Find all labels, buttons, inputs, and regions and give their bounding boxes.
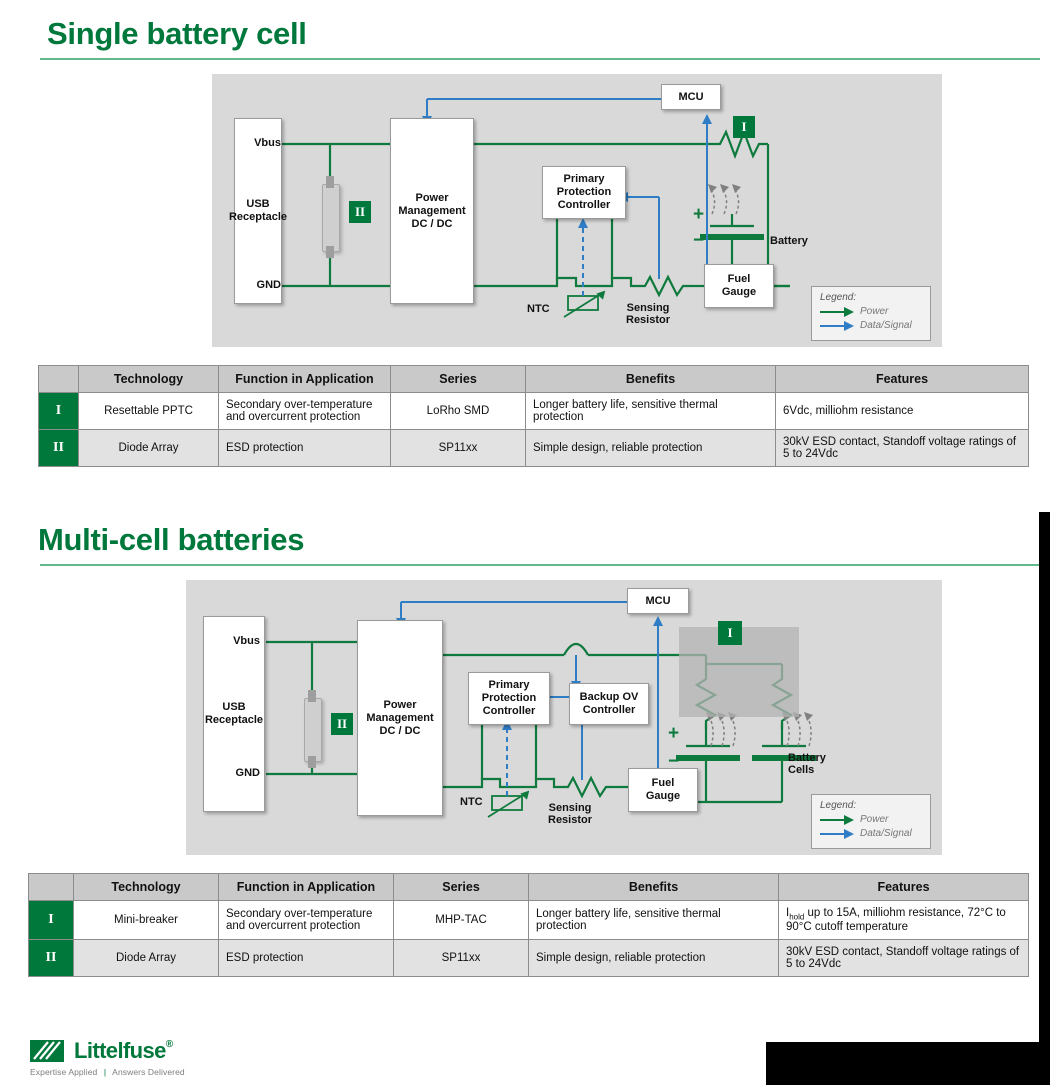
title-divider-1 (40, 58, 1040, 60)
legend-power-line-icon (820, 815, 856, 825)
sensing-resistor-label-2: Sensing Resistor (548, 802, 592, 826)
th-series-2: Series (394, 874, 529, 901)
page-title-2: Multi-cell batteries (0, 522, 1050, 558)
section-single-battery-cell: Single battery cell (0, 16, 1050, 467)
cell-features: Ihold up to 15A, milliohm resistance, 72… (779, 901, 1029, 940)
gnd-label-2: GND (208, 767, 260, 779)
diode-array-tab-top-2 (308, 690, 316, 702)
cell-series: MHP-TAC (394, 901, 529, 940)
table-row: I Resettable PPTC Secondary over-tempera… (39, 393, 1029, 430)
legend-1: Legend: Power Data/Signal (811, 286, 931, 341)
th-series-1: Series (391, 366, 526, 393)
cell-features: 30kV ESD contact, Standoff voltage ratin… (779, 940, 1029, 977)
th-features-2: Features (779, 874, 1029, 901)
brand-tagline: Expertise Applied | Answers Delivered (30, 1067, 185, 1077)
features-text: up to 15A, milliohm resistance, 72°C to … (786, 907, 1006, 933)
power-management-block-1: Power Management DC / DC (390, 118, 474, 304)
ppc-label: Primary Protection Controller (482, 679, 536, 718)
table-header-row-1: Technology Function in Application Serie… (39, 366, 1029, 393)
legend-row-power-2: Power (820, 814, 922, 825)
badge-2-diagram-1: II (349, 201, 371, 223)
ppc-label: Primary Protection Controller (557, 173, 611, 212)
tagline-right: Answers Delivered (112, 1067, 185, 1077)
battery-cells-label: Battery Cells (788, 752, 826, 776)
badge-1-diagram-2: I (718, 621, 742, 645)
vbus-label-2: Vbus (208, 635, 260, 647)
battery-minus-1: − (693, 235, 704, 247)
power-management-label: Power Management DC / DC (366, 699, 433, 738)
registered-mark: ® (166, 1039, 173, 1050)
cell-technology: Mini-breaker (74, 901, 219, 940)
mcu-block-2: MCU (627, 588, 689, 614)
cell-features: 30kV ESD contact, Standoff voltage ratin… (776, 430, 1029, 467)
legend-power-label-2: Power (860, 814, 888, 825)
cell-technology: Diode Array (79, 430, 219, 467)
legend-2: Legend: Power Data/Signal (811, 794, 931, 849)
usb-receptacle-label: USB Receptacle (229, 198, 287, 224)
tagline-separator: | (104, 1067, 106, 1077)
cell-features: 6Vdc, milliohm resistance (776, 393, 1029, 430)
diagram-single-cell: USB Receptacle Vbus GND Power Management… (212, 74, 942, 347)
cell-function: ESD protection (219, 430, 391, 467)
black-footer-block (766, 1042, 1039, 1085)
legend-power-line-icon (820, 307, 856, 317)
spec-table-single-cell: Technology Function in Application Serie… (38, 365, 1029, 467)
ntc-label-1: NTC (527, 303, 550, 315)
th-index-2 (29, 874, 74, 901)
page-title-1: Single battery cell (0, 16, 1050, 52)
cell-series: LoRho SMD (391, 393, 526, 430)
primary-protection-controller-block-1: Primary Protection Controller (542, 166, 626, 219)
tagline-left: Expertise Applied (30, 1067, 97, 1077)
legend-row-power-1: Power (820, 306, 922, 317)
power-management-label: Power Management DC / DC (398, 192, 465, 231)
cell-technology: Resettable PPTC (79, 393, 219, 430)
fuel-gauge-label: Fuel Gauge (722, 273, 756, 299)
section-multi-cell-batteries: Multi-cell batteries (0, 522, 1050, 977)
diode-array-component-2 (304, 698, 322, 762)
legend-signal-line-icon (820, 829, 856, 839)
th-technology-2: Technology (74, 874, 219, 901)
ntc-label-2: NTC (460, 796, 483, 808)
mcu-block-1: MCU (661, 84, 721, 110)
badge-2-label: II (337, 716, 347, 732)
legend-row-signal-1: Data/Signal (820, 320, 922, 331)
mcu-label: MCU (645, 595, 670, 608)
backup-ov-controller-block: Backup OV Controller (569, 683, 649, 725)
th-benefits-1: Benefits (526, 366, 776, 393)
heat-arrows-1 (710, 188, 739, 214)
row-badge-2: II (29, 940, 74, 977)
black-edge-strip-right (1039, 512, 1050, 1085)
logo-row: Littelfuse ® (30, 1038, 185, 1064)
primary-protection-controller-block-2: Primary Protection Controller (468, 672, 550, 725)
th-index-1 (39, 366, 79, 393)
title-divider-2 (40, 564, 1040, 566)
diode-array-component-1 (322, 184, 340, 252)
legend-signal-label-2: Data/Signal (860, 828, 912, 839)
diode-array-tab-bottom-1 (326, 246, 334, 258)
legend-power-label-1: Power (860, 306, 888, 317)
cell-function: Secondary over-temperature and overcurre… (219, 901, 394, 940)
usb-receptacle-label: USB Receptacle (205, 701, 263, 727)
battery-plus-1: + (693, 209, 704, 221)
badge-1-label: I (741, 119, 746, 135)
th-technology-1: Technology (79, 366, 219, 393)
cell-series: SP11xx (391, 430, 526, 467)
battery-label-1: Battery (770, 235, 808, 247)
diode-array-tab-bottom-2 (308, 756, 316, 768)
cell-function: ESD protection (219, 940, 394, 977)
cell-benefits: Simple design, reliable protection (526, 430, 776, 467)
diode-array-tab-top-1 (326, 176, 334, 188)
fuel-gauge-block-2: Fuel Gauge (628, 768, 698, 812)
footer-branding: Littelfuse ® Expertise Applied | Answers… (30, 1038, 185, 1077)
badge-2-label: II (355, 204, 365, 220)
gnd-label-1: GND (239, 279, 281, 291)
table-row: I Mini-breaker Secondary over-temperatur… (29, 901, 1029, 940)
row-badge-1: I (39, 393, 79, 430)
cell-technology: Diode Array (74, 940, 219, 977)
legend-signal-label-1: Data/Signal (860, 320, 912, 331)
table-header-row-2: Technology Function in Application Serie… (29, 874, 1029, 901)
th-benefits-2: Benefits (529, 874, 779, 901)
vbus-label-1: Vbus (239, 137, 281, 149)
power-management-block-2: Power Management DC / DC (357, 620, 443, 816)
th-function-1: Function in Application (219, 366, 391, 393)
backup-ov-label: Backup OV Controller (580, 691, 639, 717)
cell-function: Secondary over-temperature and overcurre… (219, 393, 391, 430)
badge-1-label: I (727, 625, 732, 641)
table-row: II Diode Array ESD protection SP11xx Sim… (29, 940, 1029, 977)
sensing-resistor-label-1: Sensing Resistor (626, 302, 670, 326)
cell-benefits: Longer battery life, sensitive thermal p… (526, 393, 776, 430)
fuel-gauge-block-1: Fuel Gauge (704, 264, 774, 308)
brand-name: Littelfuse (74, 1038, 166, 1064)
legend-title-2: Legend: (820, 800, 922, 811)
th-function-2: Function in Application (219, 874, 394, 901)
cell-benefits: Longer battery life, sensitive thermal p… (529, 901, 779, 940)
features-subscript: hold (789, 912, 804, 921)
legend-title-1: Legend: (820, 292, 922, 303)
littelfuse-mark-icon (30, 1038, 66, 1064)
spec-table-multi-cell: Technology Function in Application Serie… (28, 873, 1029, 977)
battery-plus-2: + (668, 728, 679, 740)
legend-row-signal-2: Data/Signal (820, 828, 922, 839)
badge-1-diagram-1: I (733, 116, 755, 138)
legend-signal-line-icon (820, 321, 856, 331)
th-features-1: Features (776, 366, 1029, 393)
table-row: II Diode Array ESD protection SP11xx Sim… (39, 430, 1029, 467)
cell-series: SP11xx (394, 940, 529, 977)
mcu-label: MCU (678, 91, 703, 104)
fuel-gauge-label: Fuel Gauge (646, 777, 680, 803)
cell-benefits: Simple design, reliable protection (529, 940, 779, 977)
row-badge-1: I (29, 901, 74, 940)
diagram-multi-cell: USB Receptacle Vbus GND Power Management… (186, 580, 942, 855)
badge-2-diagram-2: II (331, 713, 353, 735)
row-badge-2: II (39, 430, 79, 467)
battery-minus-2: − (668, 756, 679, 768)
